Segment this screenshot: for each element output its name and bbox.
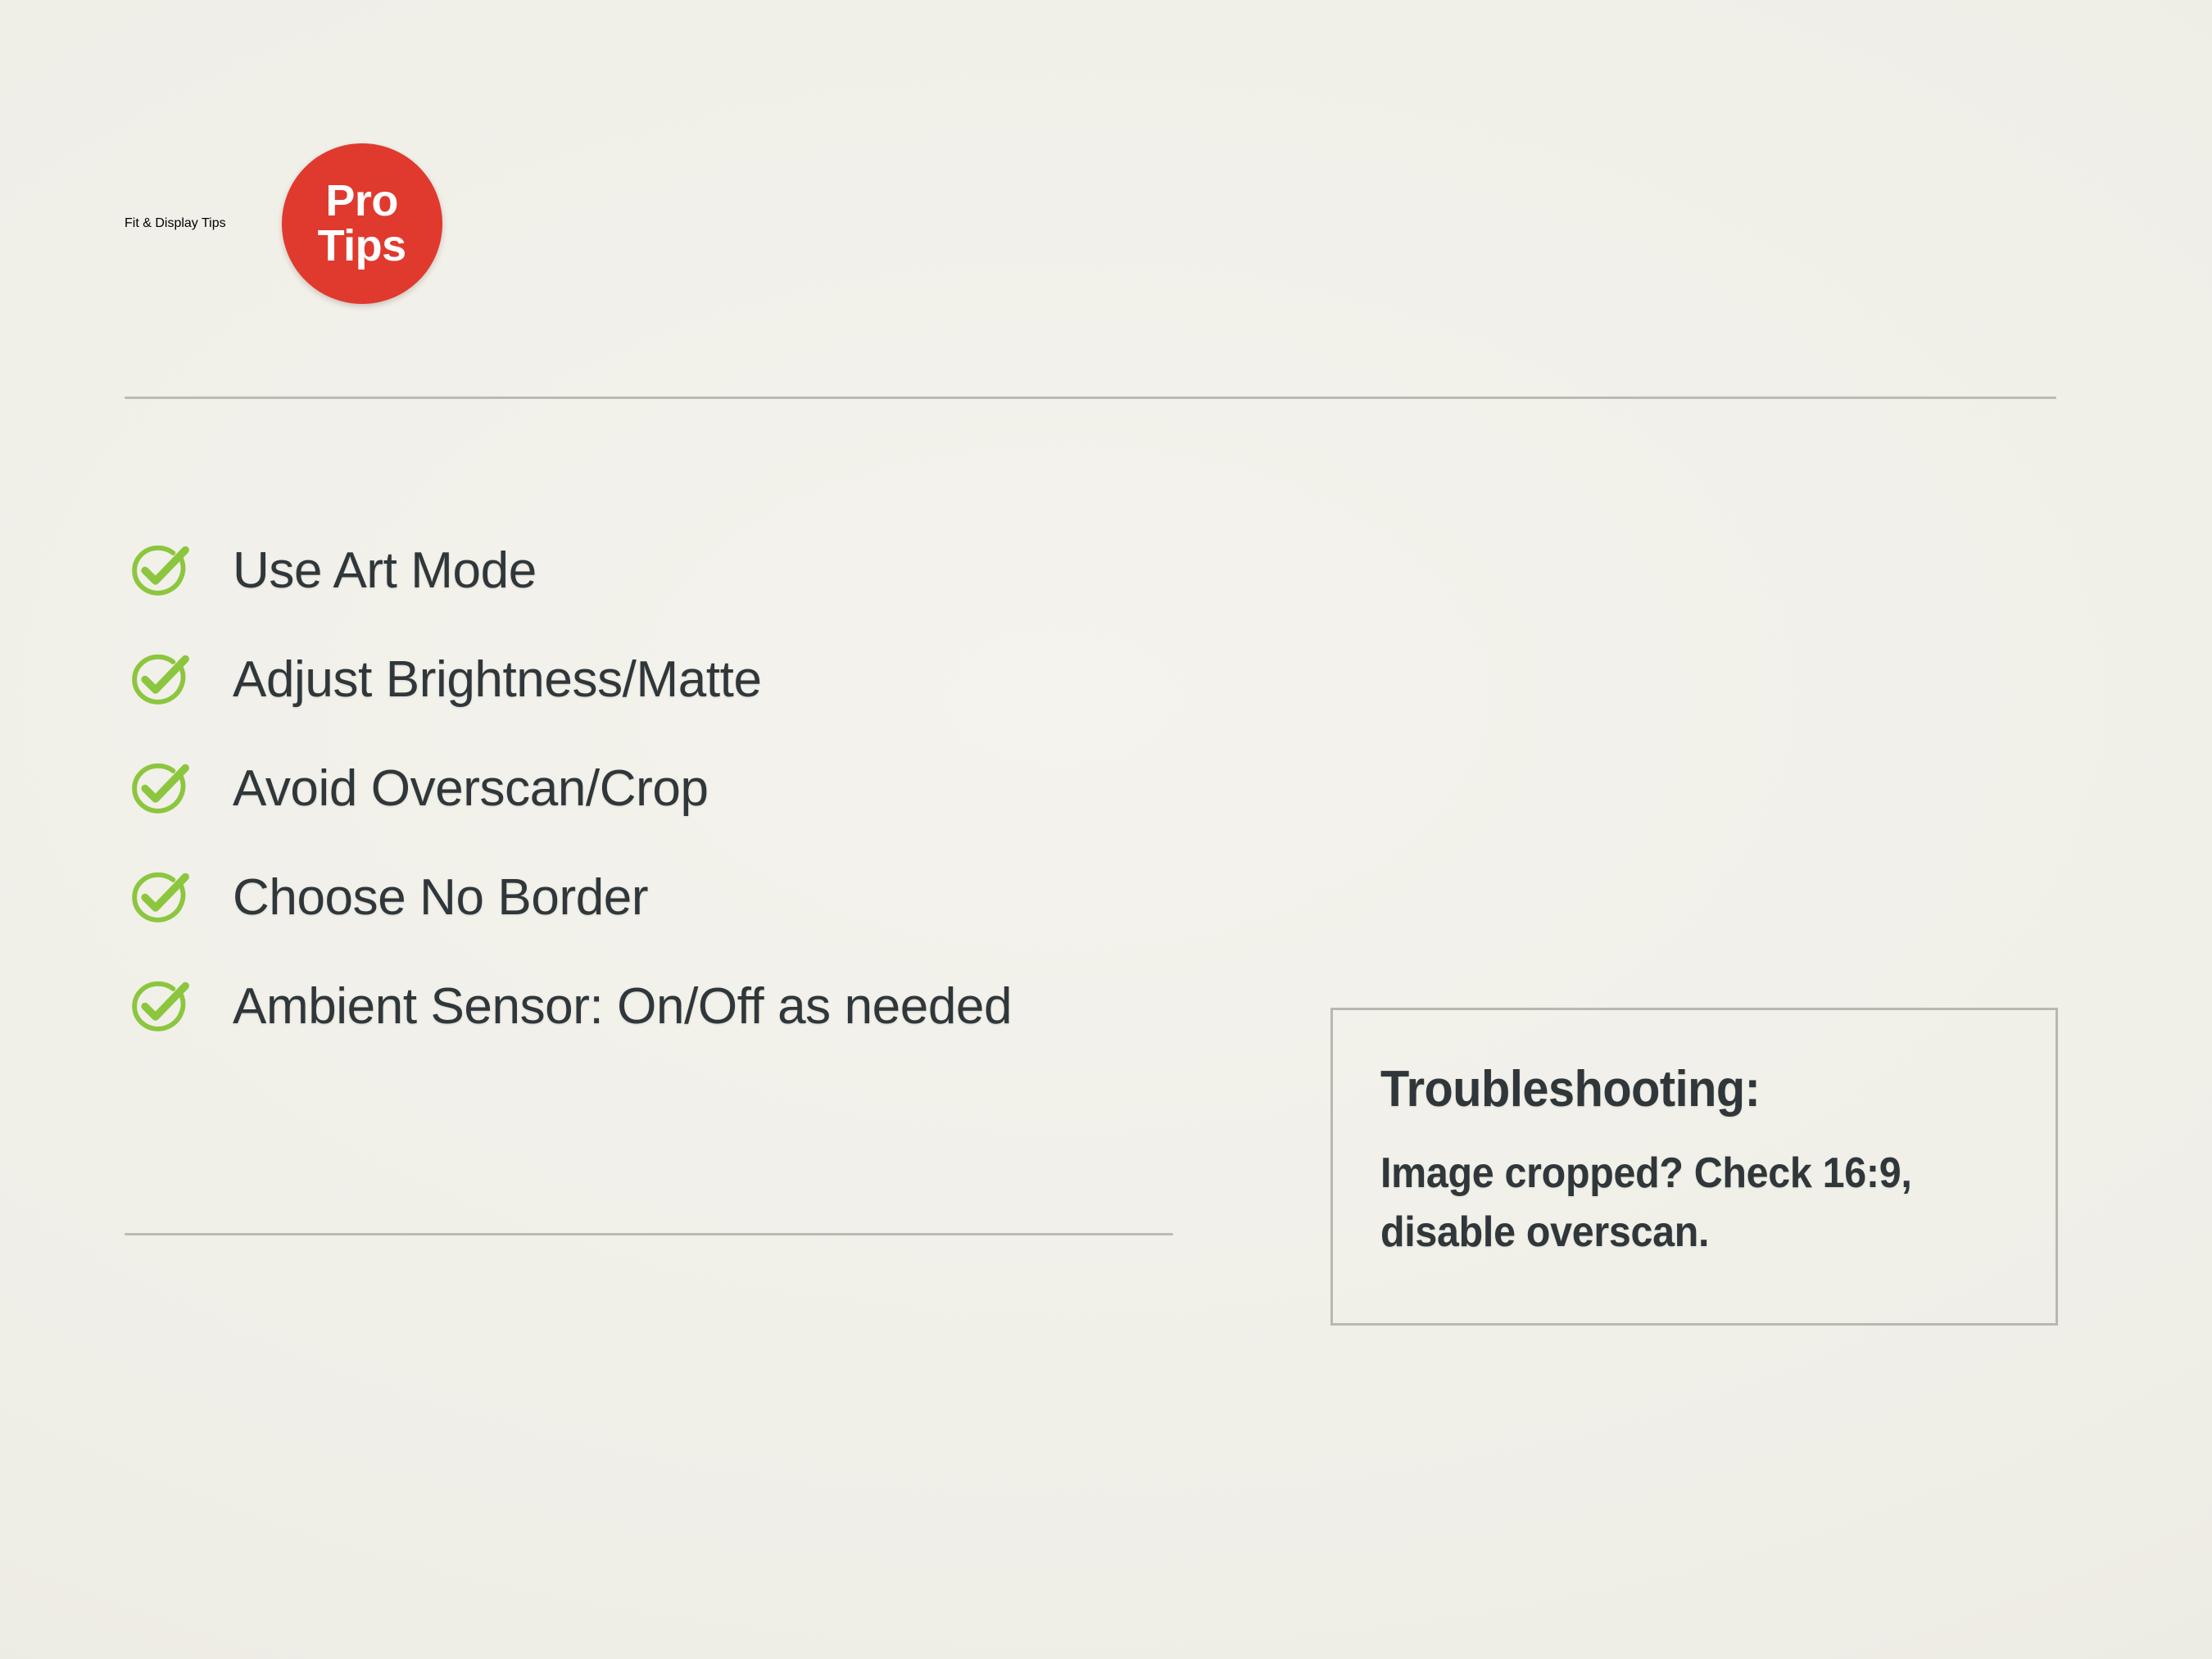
list-item-label: Choose No Border [233, 873, 648, 923]
pro-tips-badge-line-2: Tips [318, 224, 406, 269]
list-item[interactable]: Adjust Brightness/Matte [125, 625, 1012, 734]
list-item-label: Avoid Overscan/Crop [233, 764, 709, 814]
check-circle-icon [125, 864, 192, 931]
check-circle-icon [125, 537, 192, 605]
page-title: Fit & Display Tips [125, 216, 226, 231]
list-item-label: Ambient Sensor: On/Off as needed [233, 981, 1012, 1032]
list-item[interactable]: Avoid Overscan/Crop [125, 734, 1012, 843]
troubleshooting-heading: Troubleshooting: [1380, 1064, 2008, 1115]
list-item[interactable]: Ambient Sensor: On/Off as needed [125, 952, 1012, 1061]
troubleshooting-body: Image cropped? Check 16:9, disable overs… [1380, 1145, 2020, 1262]
list-item-label: Use Art Mode [233, 546, 537, 596]
check-circle-icon [125, 755, 192, 823]
list-item[interactable]: Choose No Border [125, 843, 1012, 952]
divider-middle [125, 1233, 1173, 1235]
check-circle-icon [125, 973, 192, 1040]
checklist: Use Art Mode Adjust Brightness/Matte Avo… [125, 516, 1012, 1061]
list-item[interactable]: Use Art Mode [125, 516, 1012, 625]
troubleshooting-box: Troubleshooting: Image cropped? Check 16… [1330, 1008, 2058, 1326]
divider-top [125, 397, 2056, 399]
list-item-label: Adjust Brightness/Matte [233, 655, 762, 705]
check-circle-icon [125, 646, 192, 714]
pro-tips-badge-line-1: Pro [325, 179, 398, 224]
pro-tips-badge: Pro Tips [282, 143, 442, 304]
header: Fit & Display Tips Pro Tips [125, 143, 442, 304]
slide-canvas: Fit & Display Tips Pro Tips Use Art Mode [0, 0, 2212, 1659]
